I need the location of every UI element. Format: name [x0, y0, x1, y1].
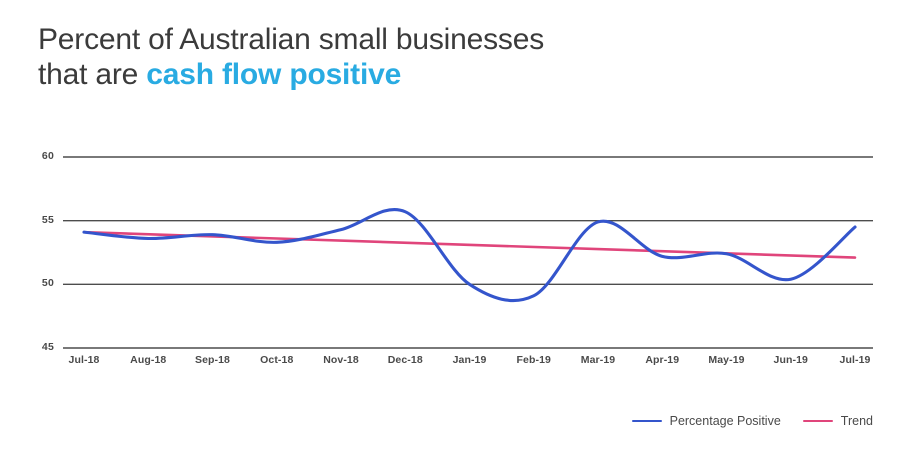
x-tick-label-jan-19: Jan-19	[440, 354, 500, 366]
y-tick-label-50: 50	[28, 277, 54, 289]
legend-line-icon-trend	[803, 420, 833, 423]
x-tick-label-aug-18: Aug-18	[118, 354, 178, 366]
x-tick-label-nov-18: Nov-18	[311, 354, 371, 366]
legend-item-percentage-positive[interactable]: Percentage Positive	[632, 414, 781, 428]
chart-card: Percent of Australian small businesses t…	[0, 0, 915, 459]
x-tick-label-mar-19: Mar-19	[568, 354, 628, 366]
x-tick-label-sep-18: Sep-18	[183, 354, 243, 366]
x-tick-label-jul-19: Jul-19	[825, 354, 885, 366]
x-tick-label-oct-18: Oct-18	[247, 354, 307, 366]
y-tick-label-60: 60	[28, 150, 54, 162]
x-tick-label-apr-19: Apr-19	[632, 354, 692, 366]
chart-svg	[0, 0, 915, 459]
x-tick-label-feb-19: Feb-19	[504, 354, 564, 366]
y-tick-label-45: 45	[28, 341, 54, 353]
legend-item-trend[interactable]: Trend	[803, 414, 873, 428]
x-tick-label-may-19: May-19	[697, 354, 757, 366]
legend-line-icon-percentage-positive	[632, 420, 662, 423]
gridlines	[63, 157, 873, 348]
y-tick-label-55: 55	[28, 214, 54, 226]
x-tick-label-jun-19: Jun-19	[761, 354, 821, 366]
legend-label-percentage-positive: Percentage Positive	[670, 414, 781, 428]
x-tick-label-dec-18: Dec-18	[375, 354, 435, 366]
x-tick-label-jul-18: Jul-18	[54, 354, 114, 366]
chart-legend: Percentage Positive Trend	[632, 414, 873, 428]
legend-label-trend: Trend	[841, 414, 873, 428]
plot-area: 60555045 Jul-18Aug-18Sep-18Oct-18Nov-18D…	[0, 0, 915, 459]
